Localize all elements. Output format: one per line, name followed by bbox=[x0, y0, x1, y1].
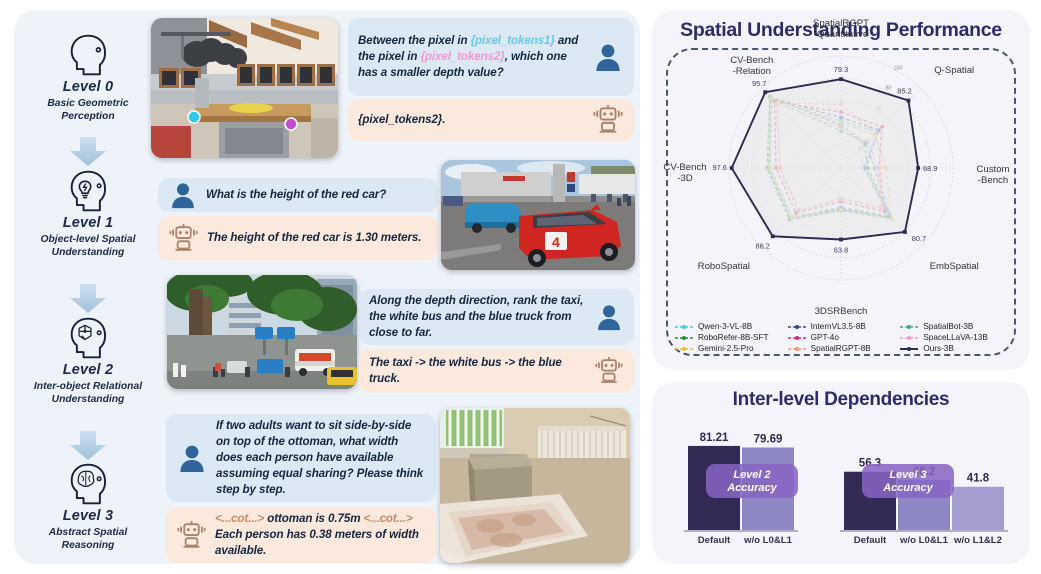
dialogue-1-answer-text: The height of the red car is 1.30 meters… bbox=[207, 230, 428, 246]
robot-avatar-icon bbox=[168, 224, 199, 253]
svg-text:86.2: 86.2 bbox=[756, 241, 770, 250]
figure-root: Level 0 Basic Geometric Perception Level… bbox=[0, 0, 1041, 574]
legend-swatch-icon bbox=[899, 323, 919, 331]
pixel-token-1: {pixel_tokens1} bbox=[471, 34, 555, 47]
radar-legend: Qwen-3-VL-8BInternVL3.5-8BSpatialBot-3BR… bbox=[674, 322, 1010, 353]
dialogue-1-question-bubble: What is the height of the red car? bbox=[158, 178, 438, 212]
bar-chart-title: Inter-level Dependencies bbox=[652, 382, 1030, 411]
legend-swatch-icon bbox=[899, 345, 919, 353]
dialogue-2-question-bubble: Along the depth direction, rank the taxi… bbox=[359, 289, 634, 345]
svg-text:CV-Bench: CV-Bench bbox=[663, 162, 706, 173]
legend-item[interactable]: SpatialBot-3B bbox=[899, 322, 1010, 331]
dialogue-0-answer-bubble: {pixel_tokens2}. bbox=[348, 99, 634, 141]
robot-avatar-icon bbox=[592, 105, 624, 135]
svg-text:80: 80 bbox=[886, 86, 892, 92]
head-brain-icon bbox=[65, 461, 111, 507]
svg-text:Level 3: Level 3 bbox=[889, 469, 926, 481]
svg-text:63.8: 63.8 bbox=[834, 245, 848, 254]
svg-text:4: 4 bbox=[552, 234, 560, 250]
commercial-kitchen-photo bbox=[151, 18, 338, 158]
svg-text:-3D: -3D bbox=[677, 173, 693, 184]
level-subtitle: Inter-object Relational Understanding bbox=[20, 381, 156, 407]
user-avatar-icon bbox=[176, 442, 208, 474]
legend-label: SpatialBot-3B bbox=[923, 322, 973, 331]
legend-swatch-icon bbox=[674, 334, 694, 342]
svg-text:3DSRBench: 3DSRBench bbox=[815, 306, 868, 317]
dialogue-1-answer-bubble: The height of the red car is 1.30 meters… bbox=[158, 216, 438, 260]
dialogue-3-answer-bubble: <...cot...> ottoman is 0.75m <...cot...>… bbox=[166, 507, 436, 563]
q-part: Between the pixel in bbox=[358, 34, 471, 47]
head-circuit-icon bbox=[65, 315, 111, 361]
svg-text:Accuracy: Accuracy bbox=[882, 482, 933, 494]
dialogue-3-question-text: If two adults want to sit side-by-side o… bbox=[216, 418, 426, 498]
svg-text:Accuracy: Accuracy bbox=[726, 482, 777, 494]
svg-text:80.7: 80.7 bbox=[912, 234, 926, 243]
svg-text:100: 100 bbox=[894, 65, 903, 71]
level-title: Level 2 bbox=[20, 363, 156, 379]
cot-marker: <...cot...> bbox=[364, 512, 413, 525]
svg-text:w/o L1&L2: w/o L1&L2 bbox=[953, 535, 1002, 546]
legend-label: SpatialRGPT-8B bbox=[811, 344, 871, 353]
a-part: Each person has 0.38 meters of width ava… bbox=[215, 528, 419, 557]
city-street-photo bbox=[167, 275, 357, 389]
legend-swatch-icon bbox=[674, 345, 694, 353]
dialogue-0-question-text: Between the pixel in {pixel_tokens1} and… bbox=[358, 33, 592, 81]
head-outline-icon bbox=[65, 32, 111, 78]
dialogue-3-question-bubble: If two adults want to sit side-by-side o… bbox=[166, 414, 436, 502]
level-subtitle: Abstract Spatial Reasoning bbox=[20, 527, 156, 553]
svg-text:79.69: 79.69 bbox=[754, 433, 783, 445]
user-avatar-icon bbox=[168, 180, 198, 210]
svg-text:-Bench: -Bench bbox=[978, 175, 1008, 186]
level-ladder: Level 0 Basic Geometric Perception Level… bbox=[20, 18, 156, 558]
legend-item[interactable]: Gemini-2.5-Pro bbox=[674, 344, 785, 353]
level-block-3: Level 3 Abstract Spatial Reasoning bbox=[20, 461, 156, 553]
legend-label: SpaceLLaVA-13B bbox=[923, 333, 987, 342]
arrow-down-icon bbox=[68, 431, 108, 461]
arrow-down-icon bbox=[68, 284, 108, 314]
dialogue-2-answer-bubble: The taxi -> the white bus -> the blue tr… bbox=[359, 349, 634, 393]
level-title: Level 0 bbox=[20, 80, 156, 96]
ottoman-room-photo bbox=[440, 408, 630, 563]
svg-text:w/o L0&L1: w/o L0&L1 bbox=[899, 535, 949, 546]
legend-item[interactable]: GPT-4o bbox=[787, 333, 898, 342]
svg-text:Default: Default bbox=[698, 535, 731, 546]
level-subtitle: Object-level Spatial Understanding bbox=[20, 234, 156, 260]
dialogue-3-answer-text: <...cot...> ottoman is 0.75m <...cot...>… bbox=[215, 511, 426, 559]
radar-chart-card: Spatial Understanding Performance 204060… bbox=[652, 10, 1030, 370]
svg-text:79.3: 79.3 bbox=[834, 65, 848, 74]
a-part: {pixel_tokens2}. bbox=[358, 113, 445, 126]
dialogue-2-answer-text: The taxi -> the white bus -> the blue tr… bbox=[369, 355, 594, 387]
cot-marker: <...cot...> bbox=[215, 512, 264, 525]
svg-text:-Quantitative: -Quantitative bbox=[814, 29, 868, 40]
dialogue-1-question-text: What is the height of the red car? bbox=[206, 187, 428, 203]
robot-avatar-icon bbox=[594, 357, 624, 385]
legend-swatch-icon bbox=[787, 345, 807, 353]
svg-text:95.7: 95.7 bbox=[752, 79, 766, 88]
svg-text:68.9: 68.9 bbox=[923, 164, 937, 173]
legend-label: Gemini-2.5-Pro bbox=[698, 344, 754, 353]
svg-text:Level 2: Level 2 bbox=[733, 469, 770, 481]
legend-label: Ours-3B bbox=[923, 344, 953, 353]
legend-label: Qwen-3-VL-8B bbox=[698, 322, 752, 331]
svg-text:Custom: Custom bbox=[976, 164, 1009, 175]
a-part: ottoman is 0.75m bbox=[264, 512, 363, 525]
svg-text:CV-Bench: CV-Bench bbox=[730, 55, 773, 66]
legend-swatch-icon bbox=[674, 323, 694, 331]
svg-text:41.8: 41.8 bbox=[967, 473, 990, 485]
legend-swatch-icon bbox=[899, 334, 919, 342]
svg-text:RoboSpatial: RoboSpatial bbox=[698, 261, 750, 272]
svg-text:85.2: 85.2 bbox=[897, 87, 911, 96]
legend-item[interactable]: InternVL3.5-8B bbox=[787, 322, 898, 331]
legend-item[interactable]: SpaceLLaVA-13B bbox=[899, 333, 1010, 342]
robot-avatar-icon bbox=[176, 521, 207, 550]
svg-text:97.6: 97.6 bbox=[712, 163, 726, 172]
level-block-0: Level 0 Basic Geometric Perception bbox=[20, 32, 156, 124]
svg-text:EmbSpatial: EmbSpatial bbox=[930, 261, 979, 272]
level-block-2: Level 2 Inter-object Relational Understa… bbox=[20, 315, 156, 407]
level-title: Level 3 bbox=[20, 509, 156, 525]
user-avatar-icon bbox=[592, 41, 624, 73]
red-race-car-photo: 4 bbox=[441, 160, 635, 270]
taxonomy-panel: Level 0 Basic Geometric Perception Level… bbox=[14, 10, 640, 564]
level-subtitle: Basic Geometric Perception bbox=[20, 98, 156, 124]
level-block-1: Level 1 Object-level Spatial Understandi… bbox=[20, 168, 156, 260]
bar-chart-card: Inter-level Dependencies 81.21Default79.… bbox=[652, 382, 1030, 564]
dialogue-0-question-bubble: Between the pixel in {pixel_tokens1} and… bbox=[348, 18, 634, 96]
legend-swatch-icon bbox=[787, 323, 807, 331]
legend-item[interactable]: Qwen-3-VL-8B bbox=[674, 322, 785, 331]
pixel-token-2: {pixel_tokens2} bbox=[420, 50, 504, 63]
legend-item[interactable]: Ours-3B bbox=[899, 344, 1010, 353]
legend-label: InternVL3.5-8B bbox=[811, 322, 866, 331]
legend-swatch-icon bbox=[787, 334, 807, 342]
svg-text:w/o L0&L1: w/o L0&L1 bbox=[743, 535, 793, 546]
arrow-down-icon bbox=[68, 137, 108, 167]
dialogue-0-answer-text: {pixel_tokens2}. bbox=[358, 112, 592, 128]
head-bulb-icon bbox=[65, 168, 111, 214]
radar-plot: 20406080100SpatialRGPT-QuantitativeQ-Spa… bbox=[652, 10, 1030, 330]
svg-text:-Relation: -Relation bbox=[733, 66, 771, 77]
svg-text:Default: Default bbox=[854, 535, 887, 546]
bar-plot: 81.21Default79.69w/o L0&L1Level 2Accurac… bbox=[652, 408, 1030, 564]
legend-label: RoboRefer-8B-SFT bbox=[698, 333, 769, 342]
legend-item[interactable]: RoboRefer-8B-SFT bbox=[674, 333, 785, 342]
legend-item[interactable]: SpatialRGPT-8B bbox=[787, 344, 898, 353]
user-avatar-icon bbox=[594, 302, 624, 332]
svg-text:SpatialRGPT: SpatialRGPT bbox=[813, 18, 869, 29]
svg-text:81.21: 81.21 bbox=[700, 432, 729, 444]
svg-text:Q-Spatial: Q-Spatial bbox=[934, 65, 974, 76]
dialogue-2-question-text: Along the depth direction, rank the taxi… bbox=[369, 293, 594, 341]
level-title: Level 1 bbox=[20, 216, 156, 232]
legend-label: GPT-4o bbox=[811, 333, 839, 342]
